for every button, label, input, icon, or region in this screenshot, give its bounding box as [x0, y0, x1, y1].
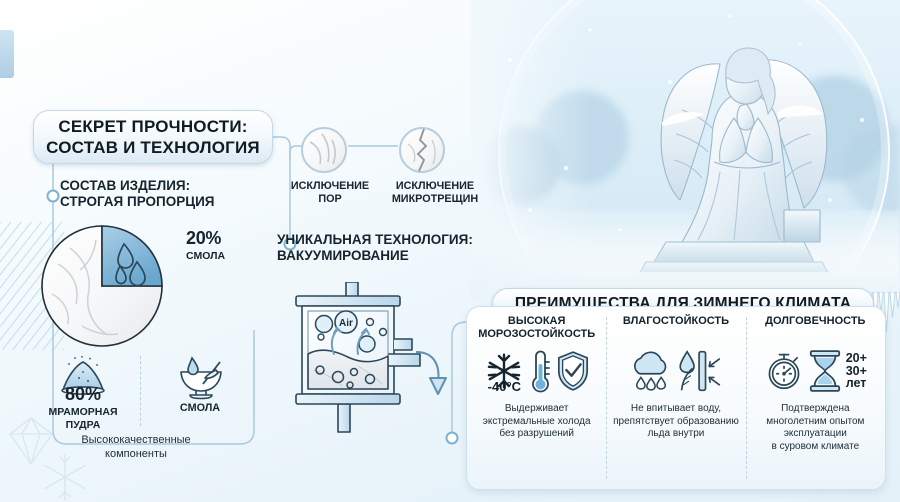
benefit-moisture-title-line-1: ВЛАГОСТОЙКОСТЬ — [623, 315, 729, 328]
benefit-frost-title-line-1: ВЫСОКАЯ — [478, 315, 595, 328]
benefit-durability-desc-line-1: Подтверждена — [766, 403, 864, 416]
exclusion-pores-label: ИСКЛЮЧЕНИЕ ПОР — [284, 180, 376, 206]
air-bubble-label: Air — [339, 318, 353, 329]
stopwatch-icon — [764, 350, 804, 392]
exclusion-cracks-line-2: МИКРОТРЕЩИН — [382, 193, 488, 206]
resin-percentage-label: 20% СМОЛА — [186, 228, 266, 262]
main-title-line-1: СЕКРЕТ ПРОЧНОСТИ: — [46, 116, 260, 137]
infographic-canvas: СЕКРЕТ ПРОЧНОСТИ: СОСТАВ И ТЕХНОЛОГИЯ СО… — [0, 0, 900, 502]
water-barrier-icon — [677, 348, 723, 394]
powder-percentage-value: 80% — [28, 384, 138, 405]
exclusion-pores-line-2: ПОР — [284, 193, 376, 206]
resin-label: СМОЛА — [160, 402, 240, 415]
composition-header-line-2: СТРОГАЯ ПРОПОРЦИЯ — [60, 194, 215, 210]
vacuum-chamber-diagram: Air — [288, 282, 458, 472]
benefit-moisture-desc-line-2: препятствует образованию — [613, 416, 739, 429]
composition-header: СОСТАВ ИЗДЕЛИЯ: СТРОГАЯ ПРОПОРЦИЯ — [60, 178, 215, 210]
benefit-column-frost: ВЫСОКАЯ МОРОЗОСТОЙКОСТЬ — [467, 307, 606, 489]
technology-header: УНИКАЛЬНАЯ ТЕХНОЛОГИЯ: ВАКУУМИРОВАНИЕ — [277, 232, 473, 264]
main-title-line-2: СОСТАВ И ТЕХНОЛОГИЯ — [46, 137, 260, 158]
benefit-frost-desc-line-2: экстремальные холода — [483, 416, 591, 429]
benefit-moisture-desc-line-3: льда внутри — [613, 428, 739, 441]
exclusion-pores-line-1: ИСКЛЮЧЕНИЕ — [284, 180, 376, 193]
shield-check-icon — [556, 350, 590, 392]
benefit-durability-desc-line-2: многолетним опытом — [766, 416, 864, 429]
benefit-durability-desc-line-3: эксплуатации — [766, 428, 864, 441]
powder-percentage-label: 80% МРАМОРНАЯ ПУДРА — [28, 384, 138, 431]
quality-note: Высококачественные компоненты — [52, 434, 220, 461]
benefit-column-durability: ДОЛГОВЕЧНОСТЬ — [746, 307, 885, 489]
technology-header-line-1: УНИКАЛЬНАЯ ТЕХНОЛОГИЯ: — [277, 232, 473, 248]
resin-mortar-icon — [172, 356, 230, 400]
benefit-durability-title-line-1: ДОЛГОВЕЧНОСТЬ — [765, 315, 865, 328]
resin-percentage-caption: СМОЛА — [186, 250, 266, 262]
benefit-frost-desc-line-3: без разрушений — [483, 428, 591, 441]
quality-note-line-1: Высококачественные — [52, 434, 220, 448]
composition-divider — [140, 356, 141, 426]
benefits-card: ВЫСОКАЯ МОРОЗОСТОЙКОСТЬ — [466, 306, 886, 490]
benefit-column-moisture: ВЛАГОСТОЙКОСТЬ — [606, 307, 745, 489]
benefit-moisture-desc-line-1: Не впитывает воду, — [613, 403, 739, 416]
thermometer-icon — [527, 348, 553, 394]
durability-years-line-1: 20+ — [846, 352, 867, 365]
technology-header-line-2: ВАКУУМИРОВАНИЕ — [277, 248, 473, 264]
durability-years-line-3: лет — [846, 377, 867, 390]
composition-header-line-1: СОСТАВ ИЗДЕЛИЯ: — [60, 178, 215, 194]
powder-caption-line-1: МРАМОРНАЯ — [28, 406, 138, 419]
rain-cloud-icon — [628, 349, 674, 393]
powder-caption-line-2: ПУДРА — [28, 419, 138, 432]
resin-percentage-value: 20% — [186, 228, 266, 249]
quality-note-line-2: компоненты — [52, 448, 220, 462]
main-title-pill: СЕКРЕТ ПРОЧНОСТИ: СОСТАВ И ТЕХНОЛОГИЯ — [33, 110, 273, 164]
frost-temperature-value: -40°C — [488, 379, 521, 394]
exclusion-cracks-icon — [398, 126, 446, 174]
benefit-frost-title-line-2: МОРОЗОСТОЙКОСТЬ — [478, 328, 595, 341]
hourglass-icon — [807, 349, 843, 393]
exclusion-pores-icon — [300, 126, 348, 174]
benefit-frost-desc-line-1: Выдерживает — [483, 403, 591, 416]
exclusion-cracks-line-1: ИСКЛЮЧЕНИЕ — [382, 180, 488, 193]
exclusion-cracks-label: ИСКЛЮЧЕНИЕ МИКРОТРЕЩИН — [382, 180, 488, 206]
benefit-durability-desc-line-4: в суровом климате — [766, 441, 864, 454]
composition-pie-chart — [36, 220, 168, 352]
